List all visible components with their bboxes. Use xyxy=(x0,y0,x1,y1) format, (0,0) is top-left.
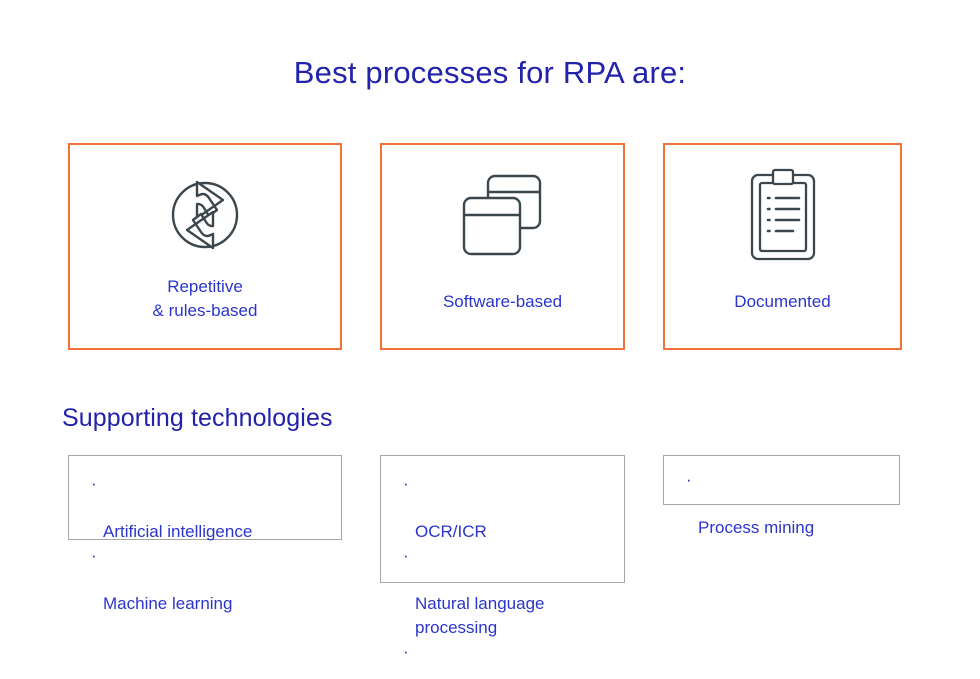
list-item-label: Artificial intelligence xyxy=(103,522,252,541)
sync-arrows-icon xyxy=(157,170,253,260)
list-item: · Image recognition xyxy=(403,640,618,679)
card-documented[interactable]: Documented xyxy=(663,143,902,350)
bullet-icon: · xyxy=(403,544,409,568)
list-item: · OCR/ICR xyxy=(403,472,618,544)
list-item-label: OCR/ICR xyxy=(415,522,487,541)
stacked-windows-icon xyxy=(454,168,552,264)
list-item: · Artificial intelligence xyxy=(91,472,335,544)
list-item: · Machine learning xyxy=(91,544,335,616)
card-label-repetitive: Repetitive & rules-based xyxy=(70,275,340,323)
clipboard-checklist-icon xyxy=(743,167,823,267)
tech-list: · Process mining xyxy=(686,468,893,540)
section-heading-supporting-technologies: Supporting technologies xyxy=(62,402,333,434)
list-item: · Process mining xyxy=(686,468,893,540)
tech-box-ai-ml[interactable]: · Artificial intelligence · Machine lear… xyxy=(68,455,342,540)
card-label-software: Software-based xyxy=(382,290,623,314)
slide-canvas: Best processes for RPA are: Repetitive &… xyxy=(0,0,980,679)
list-item: · Natural language processing xyxy=(403,544,618,640)
card-software[interactable]: Software-based xyxy=(380,143,625,350)
card-label-documented: Documented xyxy=(665,290,900,314)
tech-box-ocr-nlp-image[interactable]: · OCR/ICR · Natural language processing … xyxy=(380,455,625,583)
bullet-icon: · xyxy=(403,472,409,496)
bullet-icon: · xyxy=(403,640,409,664)
list-item-label: Natural language processing xyxy=(415,594,544,637)
card-repetitive[interactable]: Repetitive & rules-based xyxy=(68,143,342,350)
bullet-icon: · xyxy=(686,468,692,492)
tech-list: · OCR/ICR · Natural language processing … xyxy=(403,472,618,679)
bullet-icon: · xyxy=(91,544,97,568)
list-item-label: Process mining xyxy=(698,518,814,537)
list-item-label: Machine learning xyxy=(103,594,232,613)
tech-list: · Artificial intelligence · Machine lear… xyxy=(91,472,335,616)
bullet-icon: · xyxy=(91,472,97,496)
tech-box-process-mining[interactable]: · Process mining xyxy=(663,455,900,505)
